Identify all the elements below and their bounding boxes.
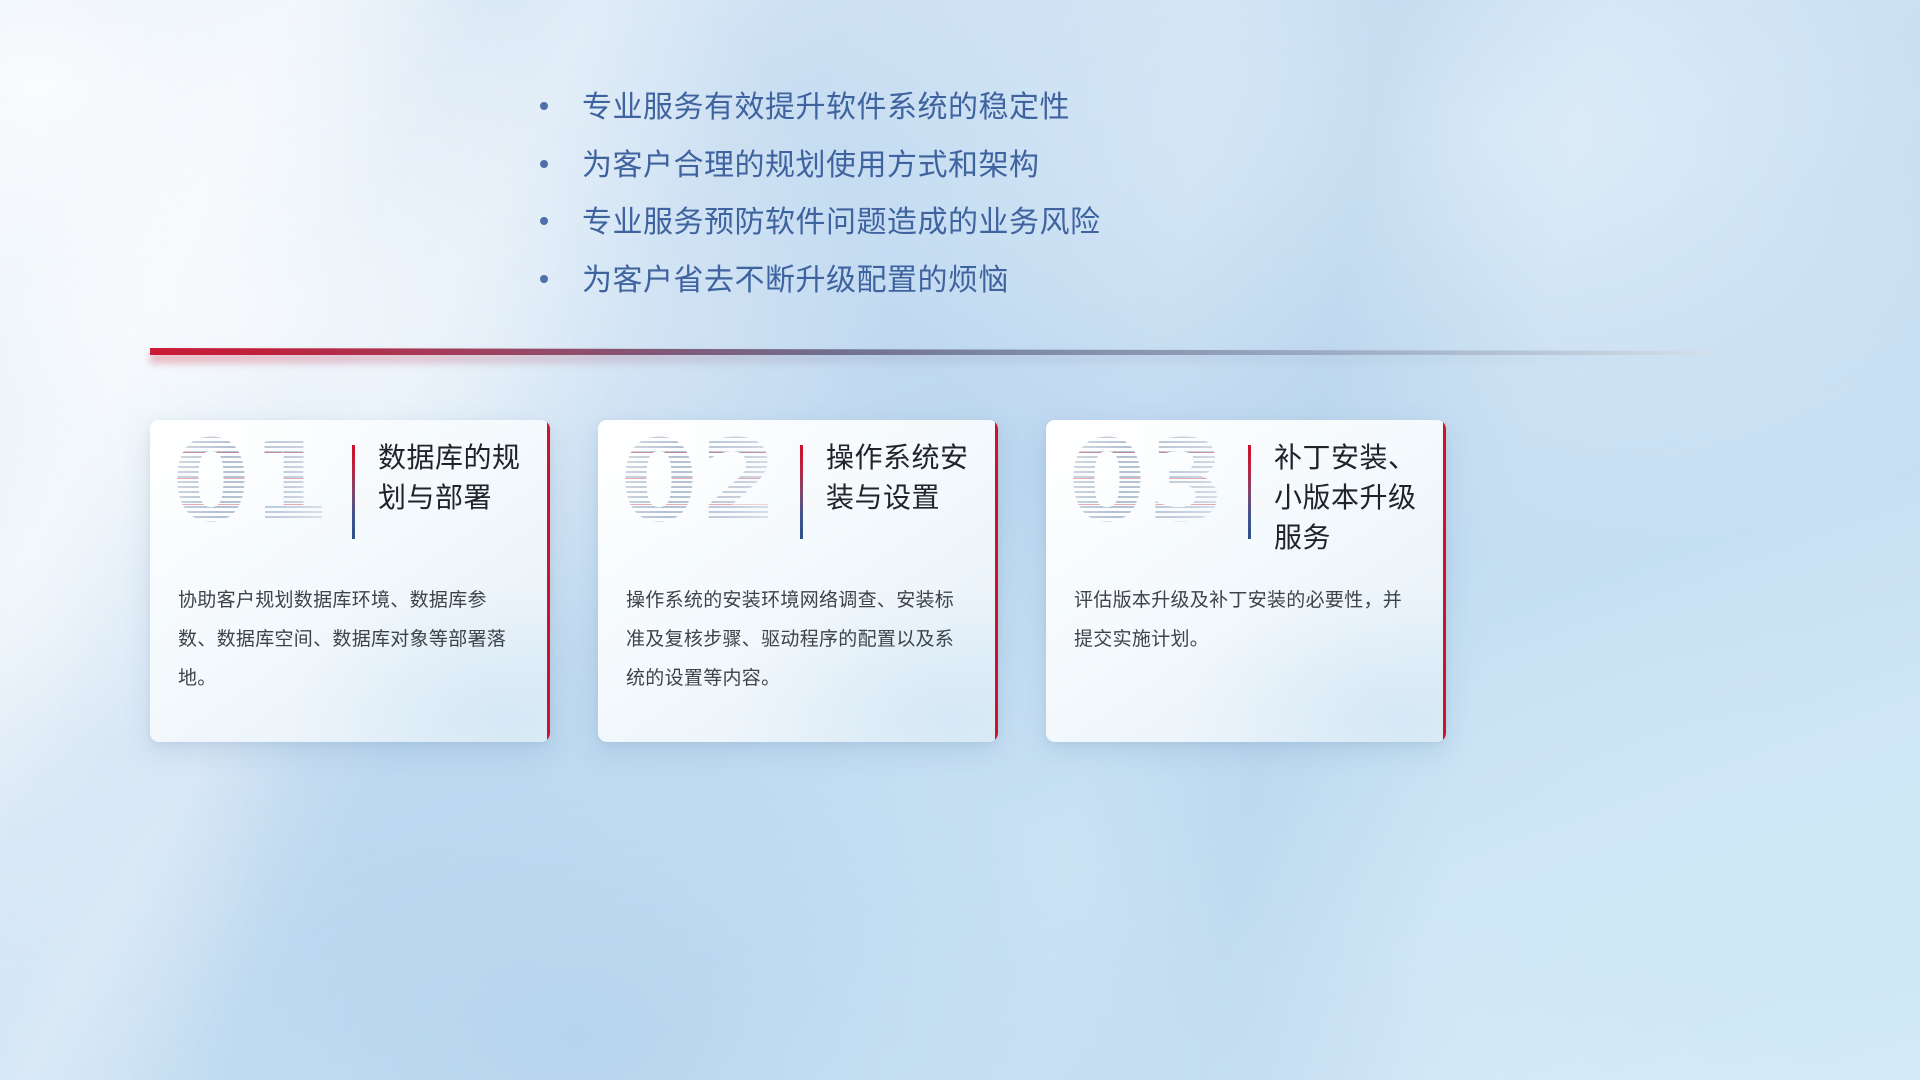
card-header: 03 03 补丁安装、小版本升级服务 — [1046, 420, 1446, 568]
list-item: 专业服务有效提升软件系统的稳定性 — [540, 88, 1440, 129]
benefit-text: 为客户省去不断升级配置的烦恼 — [582, 261, 1009, 302]
card-number-ghost-tint: 03 — [1068, 426, 1228, 538]
service-card[interactable]: 01 01 数据库的规划与部署 协助客户规划数据库环境、数据库参数、数据库空间、… — [150, 420, 550, 742]
list-item: 为客户合理的规划使用方式和架构 — [540, 146, 1440, 187]
section-divider — [150, 344, 1710, 366]
service-card[interactable]: 02 02 操作系统安装与设置 操作系统的安装环境网络调查、安装标准及复核步骤、… — [598, 420, 998, 742]
slide-canvas: 专业服务有效提升软件系统的稳定性 为客户合理的规划使用方式和架构 专业服务预防软… — [0, 0, 1920, 1080]
list-item: 为客户省去不断升级配置的烦恼 — [540, 261, 1440, 302]
card-title: 数据库的规划与部署 — [378, 438, 538, 518]
card-body-text: 评估版本升级及补丁安装的必要性，并提交实施计划。 — [1074, 582, 1410, 660]
bullet-dot-icon — [540, 102, 548, 110]
title-divider-rule — [352, 445, 355, 539]
title-divider-rule — [1248, 445, 1251, 539]
list-item: 专业服务预防软件问题造成的业务风险 — [540, 203, 1440, 244]
card-title: 操作系统安装与设置 — [826, 438, 986, 518]
card-body-text: 操作系统的安装环境网络调查、安装标准及复核步骤、驱动程序的配置以及系统的设置等内… — [626, 582, 962, 699]
card-body-text: 协助客户规划数据库环境、数据库参数、数据库空间、数据库对象等部署落地。 — [178, 582, 514, 699]
card-title: 补丁安装、小版本升级服务 — [1274, 438, 1434, 557]
service-card-grid: 01 01 数据库的规划与部署 协助客户规划数据库环境、数据库参数、数据库空间、… — [150, 420, 1770, 742]
bullet-dot-icon — [540, 275, 548, 283]
title-divider-rule — [800, 445, 803, 539]
benefits-list: 专业服务有效提升软件系统的稳定性 为客户合理的规划使用方式和架构 专业服务预防软… — [540, 88, 1440, 318]
divider-line — [150, 348, 1710, 355]
benefit-text: 专业服务预防软件问题造成的业务风险 — [582, 203, 1101, 244]
card-header: 01 01 数据库的规划与部署 — [150, 420, 550, 568]
card-header: 02 02 操作系统安装与设置 — [598, 420, 998, 568]
benefit-text: 为客户合理的规划使用方式和架构 — [582, 146, 1040, 187]
card-number-ghost-tint: 01 — [172, 426, 332, 538]
bullet-dot-icon — [540, 160, 548, 168]
bullet-dot-icon — [540, 217, 548, 225]
card-number-ghost-tint: 02 — [620, 426, 780, 538]
service-card[interactable]: 03 03 补丁安装、小版本升级服务 评估版本升级及补丁安装的必要性，并提交实施… — [1046, 420, 1446, 742]
benefit-text: 专业服务有效提升软件系统的稳定性 — [582, 88, 1070, 129]
